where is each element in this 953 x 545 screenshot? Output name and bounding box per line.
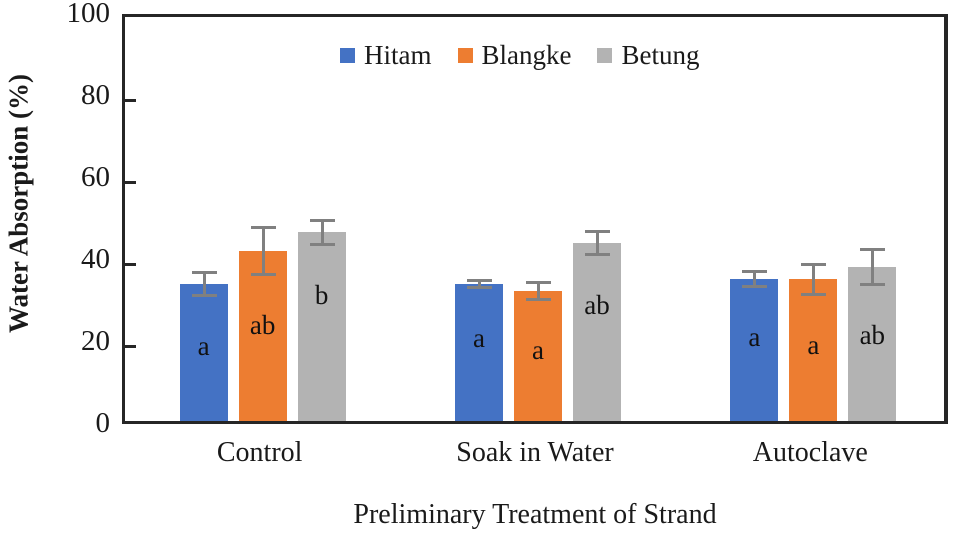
significance-letter: a xyxy=(789,332,837,359)
bar-wrap: a xyxy=(180,11,228,421)
x-axis-title: Preliminary Treatment of Strand xyxy=(122,498,948,532)
bar-wrap: a xyxy=(730,11,778,421)
error-bar-cap-upper xyxy=(585,230,610,233)
significance-letter: ab xyxy=(573,292,621,319)
y-axis-tick-labels: 100806040200 xyxy=(30,0,110,440)
y-tick-label: 80 xyxy=(38,81,110,110)
bar[interactable] xyxy=(298,232,346,421)
bar[interactable] xyxy=(573,243,621,421)
y-tick-mark xyxy=(125,181,136,184)
significance-letter: ab xyxy=(239,312,287,339)
significance-letter: ab xyxy=(848,322,896,349)
plot-area: aabbaaabaaab xyxy=(122,14,948,424)
legend-item[interactable]: Hitam xyxy=(340,42,432,69)
error-bar-cap-upper xyxy=(192,271,217,274)
chart-legend: HitamBlangkeBetung xyxy=(340,42,699,69)
error-bar-line xyxy=(262,226,265,276)
error-bar-cap-lower xyxy=(310,243,335,246)
error-bar-cap-upper xyxy=(742,270,767,273)
error-bar-cap-upper xyxy=(467,279,492,282)
legend-item[interactable]: Blangke xyxy=(458,42,572,69)
legend-label: Betung xyxy=(621,42,699,69)
legend-swatch-icon xyxy=(597,48,612,63)
error-bar-line xyxy=(812,263,815,296)
error-bar-cap-lower xyxy=(192,294,217,297)
y-tick-label: 0 xyxy=(38,409,110,438)
legend-label: Hitam xyxy=(364,42,432,69)
x-tick-label: Autoclave xyxy=(673,436,948,470)
y-tick-label: 100 xyxy=(38,0,110,28)
significance-letter: a xyxy=(180,333,228,360)
x-tick-label: Soak in Water xyxy=(397,436,672,470)
legend-swatch-icon xyxy=(458,48,473,63)
error-bar-cap-upper xyxy=(860,248,885,251)
bar-wrap: a xyxy=(455,11,503,421)
bar-wrap: ab xyxy=(573,11,621,421)
y-tick-label: 20 xyxy=(38,327,110,356)
error-bar-cap-lower xyxy=(585,253,610,256)
bar-group: aaab xyxy=(730,17,896,421)
significance-letter: a xyxy=(455,325,503,352)
bar-wrap: b xyxy=(298,11,346,421)
error-bar-cap-lower xyxy=(467,286,492,289)
y-tick-mark xyxy=(125,345,136,348)
error-bar-line xyxy=(871,248,874,286)
bar-wrap: ab xyxy=(848,11,896,421)
y-tick-mark xyxy=(125,99,136,102)
x-axis-tick-labels: ControlSoak in WaterAutoclave xyxy=(122,436,948,480)
bar-wrap: ab xyxy=(239,11,287,421)
error-bar-cap-upper xyxy=(251,226,276,229)
legend-swatch-icon xyxy=(340,48,355,63)
y-tick-label: 40 xyxy=(38,245,110,274)
error-bar-cap-upper xyxy=(310,219,335,222)
significance-letter: a xyxy=(730,324,778,351)
significance-letter: b xyxy=(298,282,346,309)
error-bar-cap-lower xyxy=(742,285,767,288)
bar-group: aabb xyxy=(180,17,346,421)
legend-item[interactable]: Betung xyxy=(597,42,699,69)
bar-wrap: a xyxy=(789,11,837,421)
bar-wrap: a xyxy=(514,11,562,421)
plot-inner: aabbaaabaaab xyxy=(125,17,944,421)
error-bar-cap-upper xyxy=(801,263,826,266)
y-tick-label: 60 xyxy=(38,163,110,192)
significance-letter: a xyxy=(514,337,562,364)
legend-label: Blangke xyxy=(482,42,572,69)
error-bar-cap-upper xyxy=(526,281,551,284)
x-tick-label: Control xyxy=(122,436,397,470)
error-bar-cap-lower xyxy=(251,273,276,276)
bar-group: aaab xyxy=(455,17,621,421)
error-bar-cap-lower xyxy=(860,283,885,286)
error-bar-cap-lower xyxy=(801,293,826,296)
y-tick-mark xyxy=(125,263,136,266)
water-absorption-bar-chart: Water Absorption (%) 100806040200 Contro… xyxy=(0,0,953,545)
error-bar-cap-lower xyxy=(526,298,551,301)
